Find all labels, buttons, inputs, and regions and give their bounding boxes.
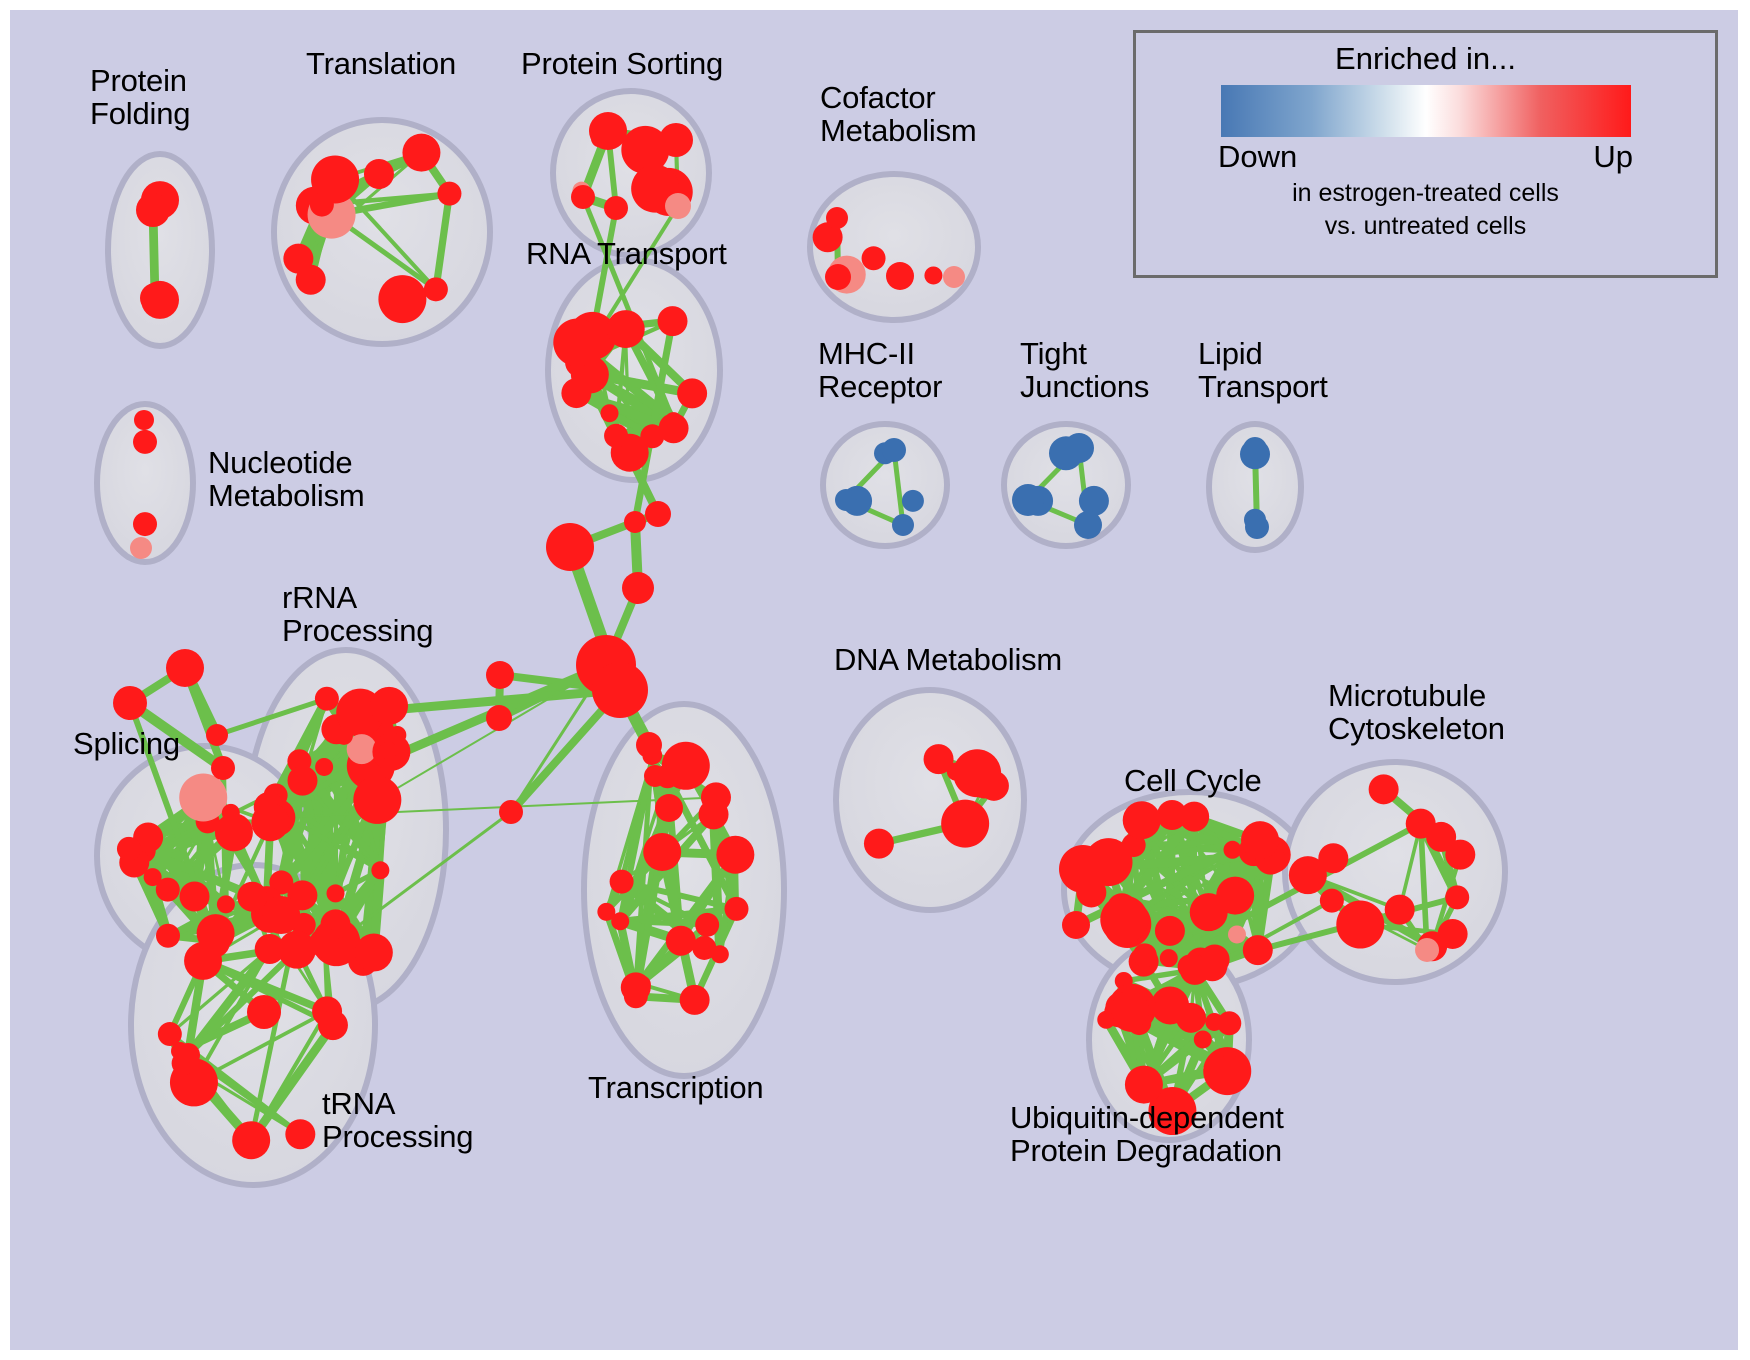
gene-set-node[interactable]: [1243, 935, 1273, 965]
gene-set-node[interactable]: [309, 928, 339, 958]
cluster-label-lipid-transport: Lipid Transport: [1198, 338, 1328, 404]
cluster-hull-protein-sorting: [553, 91, 709, 255]
gene-set-node[interactable]: [1123, 801, 1161, 839]
gene-set-node[interactable]: [237, 882, 267, 912]
gene-set-node[interactable]: [211, 756, 235, 780]
gene-set-node[interactable]: [364, 159, 394, 189]
gene-set-node[interactable]: [643, 833, 681, 871]
cluster-label-protein-folding: Protein Folding: [90, 65, 190, 131]
gene-set-node[interactable]: [144, 868, 162, 886]
gene-set-node[interactable]: [1160, 949, 1178, 967]
cluster-label-translation: Translation: [306, 48, 456, 81]
gene-set-node[interactable]: [1205, 1013, 1223, 1031]
cluster-label-trna-processing: tRNA Processing: [322, 1088, 473, 1154]
gene-set-node[interactable]: [611, 912, 629, 930]
gene-set-node[interactable]: [645, 501, 671, 527]
cluster-label-rrna-processing: rRNA Processing: [282, 582, 433, 648]
gene-set-node[interactable]: [217, 895, 235, 913]
gene-set-node[interactable]: [924, 266, 942, 284]
gene-set-node[interactable]: [607, 310, 645, 348]
cluster-label-mhc-ii-receptor: MHC-II Receptor: [818, 338, 942, 404]
gene-set-node[interactable]: [1180, 955, 1210, 985]
gene-set-node[interactable]: [222, 804, 240, 822]
gene-set-node[interactable]: [953, 749, 1001, 797]
cluster-label-rna-transport: RNA Transport: [526, 238, 727, 271]
gene-set-node[interactable]: [1241, 821, 1279, 859]
gene-set-node[interactable]: [133, 430, 157, 454]
gene-set-node[interactable]: [864, 829, 894, 859]
gene-set-node[interactable]: [677, 378, 707, 408]
gene-set-node[interactable]: [604, 196, 628, 220]
gene-set-node[interactable]: [1243, 437, 1267, 461]
gene-set-node[interactable]: [166, 649, 204, 687]
gene-set-node[interactable]: [1445, 885, 1469, 909]
cluster-label-tight-junctions: Tight Junctions: [1020, 338, 1149, 404]
gene-set-node[interactable]: [262, 896, 300, 934]
gene-set-node[interactable]: [561, 378, 591, 408]
legend-caption-line-1: in estrogen-treated cells: [1136, 179, 1715, 208]
network-plot-area: Protein FoldingTranslationProtein Sortin…: [10, 10, 1738, 1350]
gene-set-node[interactable]: [335, 727, 353, 745]
gene-set-node[interactable]: [943, 266, 965, 288]
gene-set-node[interactable]: [1194, 1030, 1212, 1048]
gene-set-node[interactable]: [546, 523, 594, 571]
gene-set-node[interactable]: [251, 803, 289, 841]
gene-set-node[interactable]: [1079, 486, 1109, 516]
gene-set-node[interactable]: [1228, 925, 1246, 943]
gene-set-node[interactable]: [571, 185, 595, 209]
gene-set-node[interactable]: [941, 800, 989, 848]
gene-set-node[interactable]: [1012, 484, 1044, 516]
gene-set-node[interactable]: [886, 262, 914, 290]
gene-set-node[interactable]: [247, 995, 281, 1029]
gene-set-node[interactable]: [499, 800, 523, 824]
gene-set-node[interactable]: [621, 972, 651, 1002]
figure-canvas: Protein FoldingTranslationProtein Sortin…: [0, 0, 1750, 1360]
gene-set-node[interactable]: [902, 490, 924, 512]
gene-set-node[interactable]: [1125, 1066, 1163, 1104]
gene-set-node[interactable]: [862, 246, 886, 270]
gene-set-node[interactable]: [699, 799, 729, 829]
gene-set-node[interactable]: [665, 193, 691, 219]
gene-set-node[interactable]: [117, 837, 141, 861]
gene-set-node[interactable]: [1074, 511, 1102, 539]
gene-set-node[interactable]: [1176, 1003, 1206, 1033]
gene-set-node[interactable]: [283, 244, 313, 274]
gene-set-node[interactable]: [892, 514, 914, 536]
gene-set-node[interactable]: [130, 537, 152, 559]
gene-set-node[interactable]: [1133, 943, 1157, 967]
cluster-label-transcription: Transcription: [588, 1072, 763, 1105]
gene-set-node[interactable]: [1336, 901, 1384, 949]
gene-set-node[interactable]: [1064, 433, 1094, 463]
gene-set-node[interactable]: [1100, 896, 1148, 944]
gene-set-node[interactable]: [370, 687, 408, 725]
gene-set-node[interactable]: [644, 765, 666, 787]
cluster-label-splicing: Splicing: [73, 728, 180, 761]
gene-set-node[interactable]: [437, 182, 461, 206]
gene-set-node[interactable]: [355, 934, 393, 972]
gene-set-node[interactable]: [1245, 515, 1269, 539]
legend-title: Enriched in...: [1136, 41, 1715, 77]
gene-set-node[interactable]: [1289, 856, 1327, 894]
gene-set-node[interactable]: [156, 924, 180, 948]
gene-set-node[interactable]: [402, 134, 440, 172]
cluster-label-ubiquitin-protein-degradation: Ubiquitin-dependent Protein Degradation: [1010, 1102, 1284, 1168]
gene-set-node[interactable]: [1179, 802, 1209, 832]
gene-set-node[interactable]: [659, 123, 693, 157]
gene-set-node[interactable]: [232, 1121, 270, 1159]
gene-set-node[interactable]: [655, 794, 683, 822]
gene-set-node[interactable]: [315, 687, 339, 711]
gene-set-node[interactable]: [206, 724, 228, 746]
gene-set-node[interactable]: [486, 705, 512, 731]
gene-set-node[interactable]: [622, 572, 654, 604]
gene-set-node[interactable]: [695, 913, 719, 937]
gene-set-node[interactable]: [725, 897, 749, 921]
gene-set-node[interactable]: [1155, 916, 1185, 946]
gene-set-node[interactable]: [589, 112, 627, 150]
gene-set-node[interactable]: [658, 306, 688, 336]
gene-set-node[interactable]: [825, 264, 851, 290]
gene-set-node[interactable]: [353, 776, 401, 824]
gene-set-node[interactable]: [140, 283, 170, 313]
gene-set-node[interactable]: [424, 277, 448, 301]
cluster-label-cell-cycle: Cell Cycle: [1124, 765, 1262, 798]
gene-set-node[interactable]: [1059, 845, 1107, 893]
gene-set-node[interactable]: [1369, 774, 1399, 804]
legend-panel: Enriched in... Down Up in estrogen-treat…: [1133, 30, 1718, 278]
cluster-label-dna-metabolism: DNA Metabolism: [834, 644, 1062, 677]
gene-set-node[interactable]: [318, 1010, 348, 1040]
gene-set-node[interactable]: [1385, 895, 1415, 925]
legend-caption-line-2: vs. untreated cells: [1136, 212, 1715, 241]
gene-set-node[interactable]: [486, 661, 514, 689]
legend-color-gradient: [1221, 85, 1631, 137]
gene-set-node[interactable]: [692, 936, 716, 960]
gene-set-node[interactable]: [287, 766, 317, 796]
gene-set-node[interactable]: [355, 705, 373, 723]
gene-set-node[interactable]: [636, 732, 662, 758]
gene-set-node[interactable]: [624, 511, 646, 533]
gene-set-node[interactable]: [1062, 911, 1090, 939]
cluster-label-protein-sorting: Protein Sorting: [521, 48, 723, 81]
gene-set-node[interactable]: [553, 319, 601, 367]
gene-set-node[interactable]: [1111, 991, 1149, 1029]
gene-set-node[interactable]: [133, 512, 157, 536]
gene-set-node[interactable]: [371, 861, 389, 879]
gene-set-node[interactable]: [171, 1042, 189, 1060]
gene-set-node[interactable]: [680, 985, 710, 1015]
gene-set-node[interactable]: [278, 931, 316, 969]
gene-set-node[interactable]: [1415, 938, 1439, 962]
gene-set-node[interactable]: [310, 193, 334, 217]
legend-up-label: Up: [1593, 139, 1633, 175]
gene-set-node[interactable]: [1438, 919, 1468, 949]
gene-set-node[interactable]: [662, 742, 710, 790]
gene-set-node[interactable]: [179, 774, 227, 822]
legend-down-label: Down: [1218, 139, 1297, 175]
gene-set-node[interactable]: [1217, 1055, 1241, 1079]
gene-set-node[interactable]: [826, 207, 848, 229]
cluster-label-microtubule-cytoskeleton: Microtubule Cytoskeleton: [1328, 680, 1505, 746]
gene-set-node[interactable]: [327, 884, 345, 902]
gene-set-node[interactable]: [180, 882, 210, 912]
gene-set-node[interactable]: [315, 758, 333, 776]
gene-set-node[interactable]: [716, 836, 754, 874]
legend-endpoint-labels: Down Up: [1218, 139, 1633, 175]
cluster-label-nucleotide-metabolism: Nucleotide Metabolism: [208, 447, 365, 513]
gene-set-node[interactable]: [601, 404, 619, 422]
gene-set-node[interactable]: [882, 438, 906, 462]
gene-set-node[interactable]: [640, 424, 664, 448]
gene-set-node[interactable]: [835, 489, 857, 511]
gene-set-node[interactable]: [184, 942, 222, 980]
gene-set-node[interactable]: [136, 193, 170, 227]
gene-set-node[interactable]: [113, 686, 147, 720]
gene-set-node[interactable]: [1426, 822, 1456, 852]
cluster-label-cofactor-metabolism: Cofactor Metabolism: [820, 82, 977, 148]
gene-set-node[interactable]: [1320, 889, 1344, 913]
gene-set-node[interactable]: [378, 275, 426, 323]
gene-set-node[interactable]: [666, 926, 696, 956]
gene-set-node[interactable]: [134, 410, 154, 430]
gene-set-node[interactable]: [285, 1119, 315, 1149]
gene-set-node[interactable]: [1190, 893, 1228, 931]
gene-set-node[interactable]: [379, 741, 397, 759]
gene-set-node[interactable]: [604, 424, 628, 448]
gene-set-node[interactable]: [610, 870, 634, 894]
gene-set-node[interactable]: [592, 662, 648, 718]
